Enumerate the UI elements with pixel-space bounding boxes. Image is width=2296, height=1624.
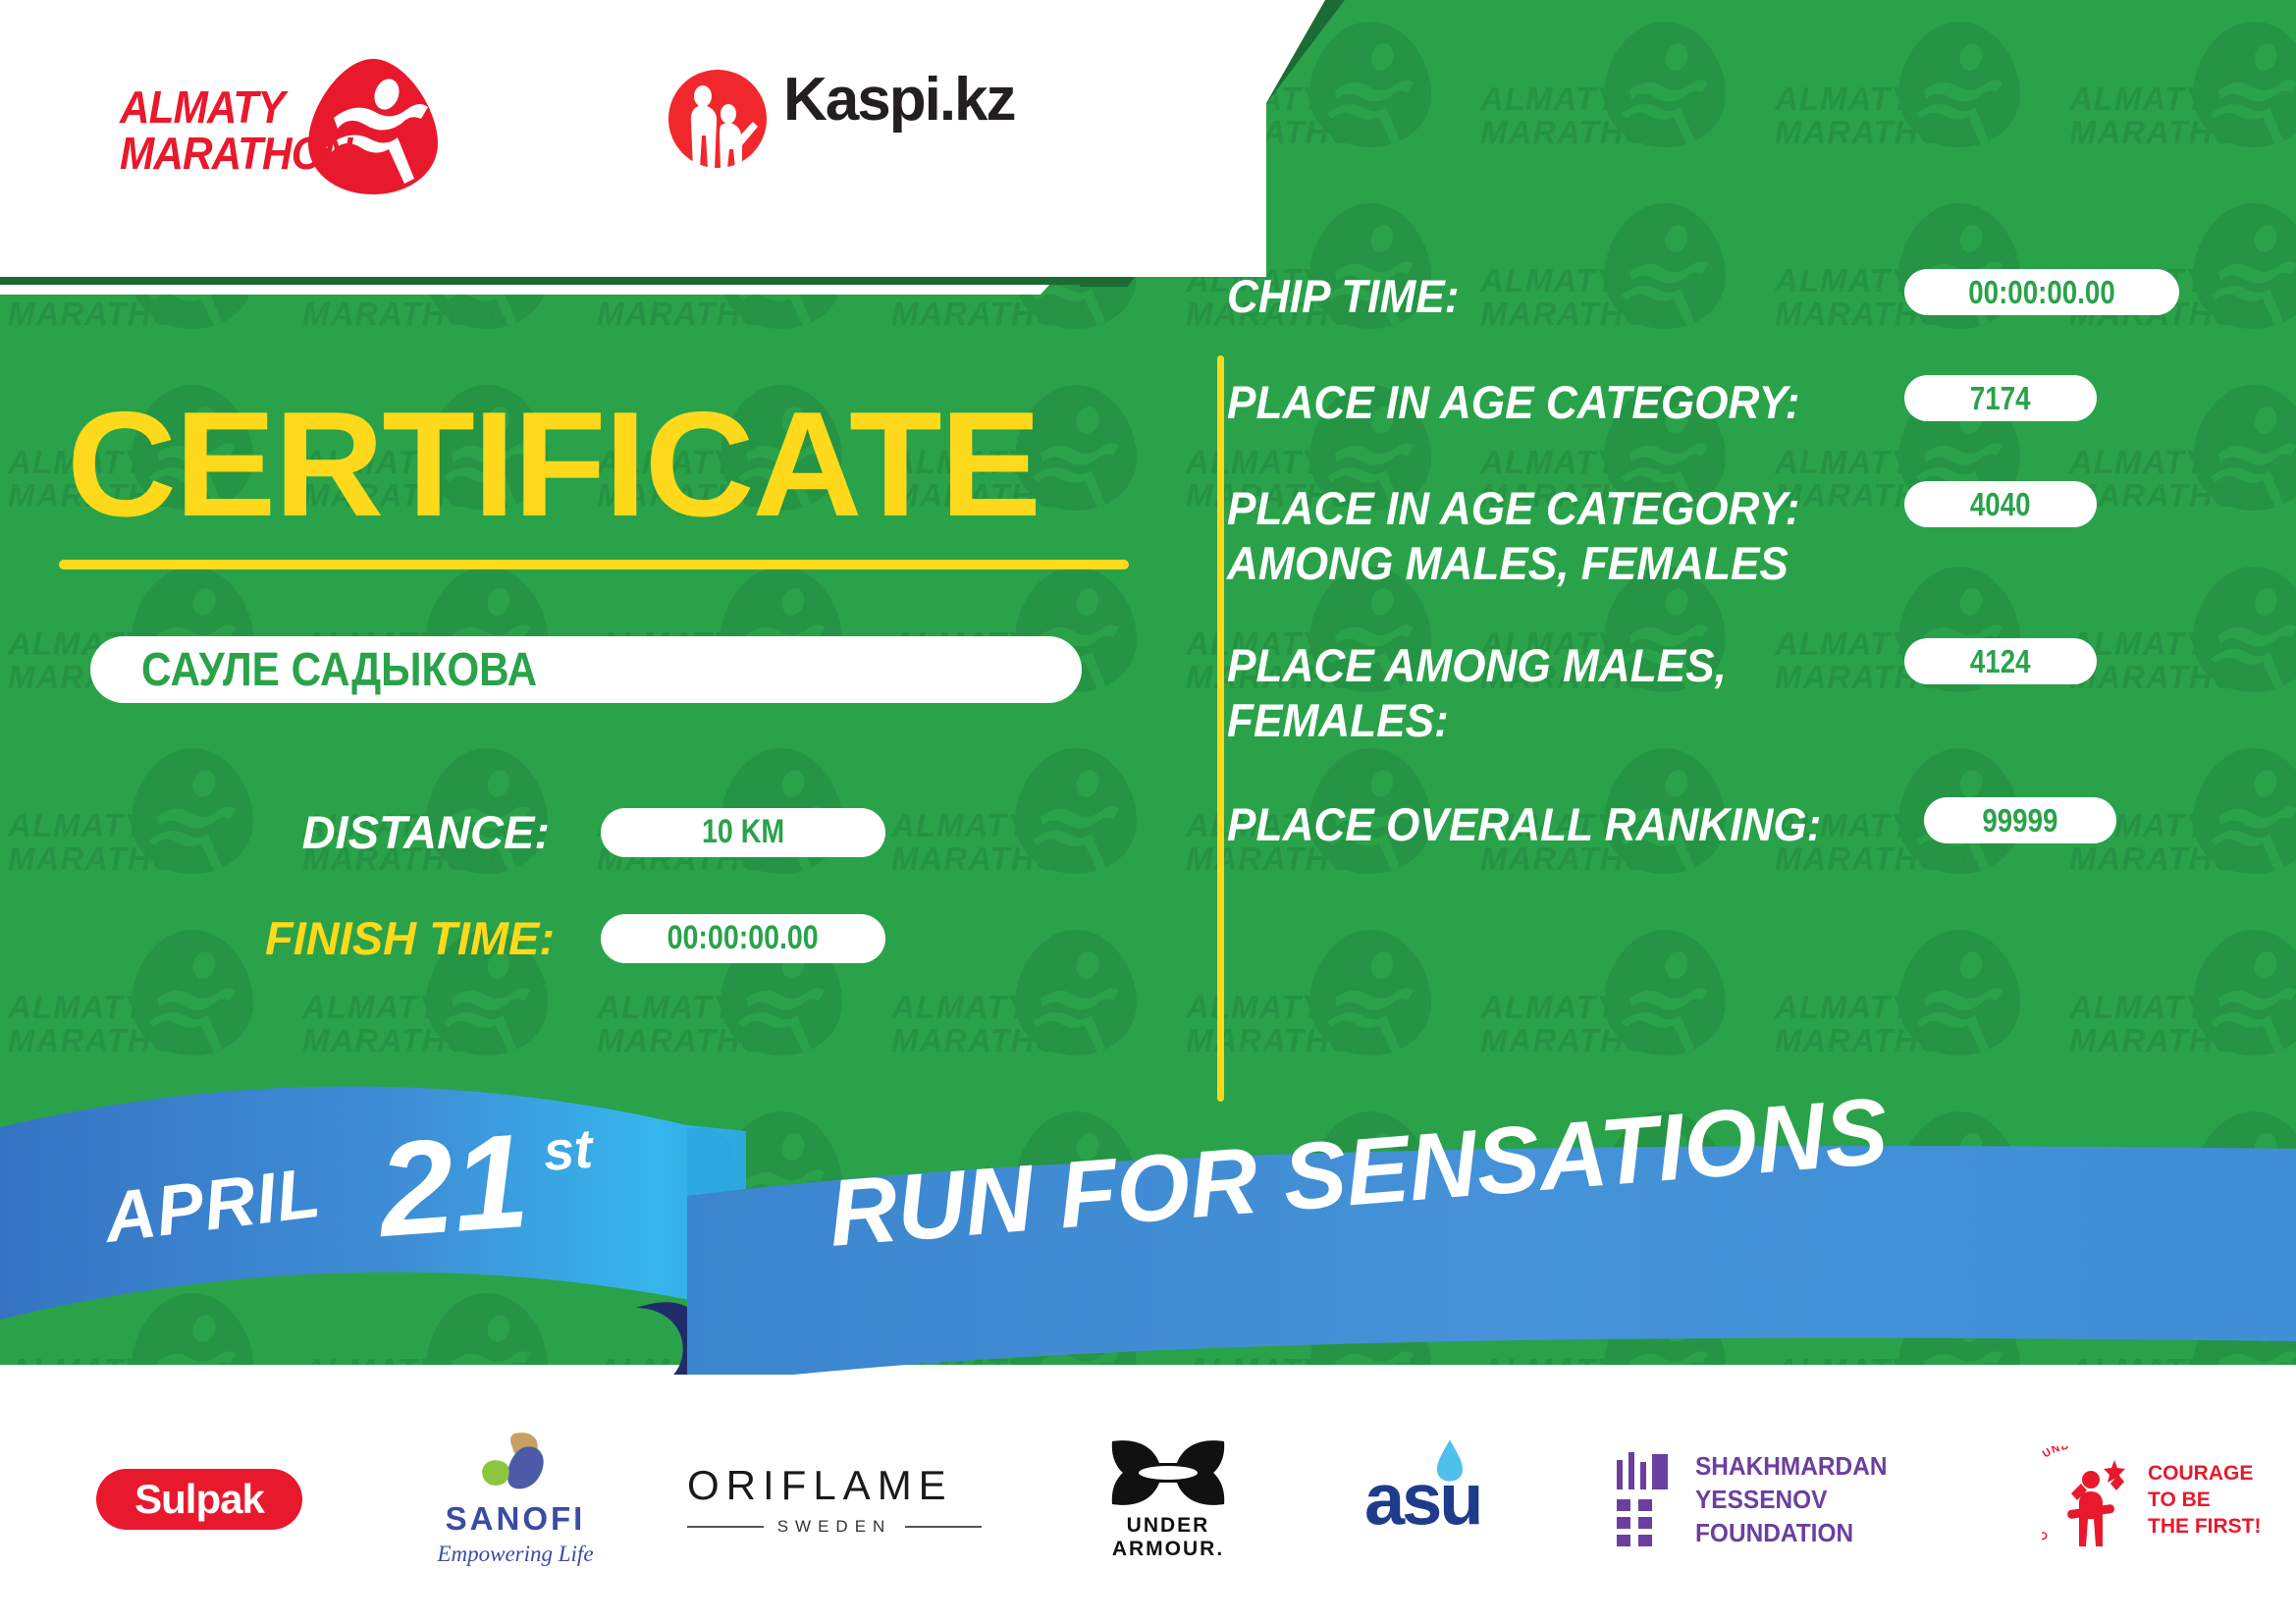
sponsor-sulpak: Sulpak (96, 1469, 302, 1530)
place-among-gender-row: PLACE AMONG MALES,FEMALES: 4124 (1227, 638, 2296, 748)
kaspi-people-circle-icon (667, 69, 768, 169)
sponsor-yessenov: SHAKHMARDAN YESSENOV FOUNDATION (1615, 1449, 2027, 1549)
courage-label-line2: TO BE (2148, 1487, 2262, 1513)
place-age-category-gender-label: PLACE IN AGE CATEGORY:AMONG MALES, FEMAL… (1227, 481, 1864, 591)
sponsor-bar: Sulpak SANOFI Empowering Life ORIFLAME S… (0, 1375, 2296, 1624)
svg-text:CORPORATE FUND: CORPORATE FUND (2042, 1446, 2071, 1543)
oriflame-rule-left (687, 1526, 764, 1528)
oriflame-tagline-wrap: SWEDEN (687, 1517, 982, 1537)
place-overall-ranking-label: PLACE OVERALL RANKING: (1227, 797, 1882, 852)
place-age-category-row: PLACE IN AGE CATEGORY: 7174 (1227, 375, 2296, 430)
place-age-category-gender-row: PLACE IN AGE CATEGORY:AMONG MALES, FEMAL… (1227, 481, 2296, 591)
distance-value-field: 10 KM (601, 808, 885, 857)
oriflame-label: ORIFLAME (687, 1462, 982, 1509)
place-overall-ranking-value-field: 99999 (1924, 797, 2116, 843)
ribbon-ordinal: st (541, 1116, 594, 1183)
title-divider (59, 560, 1129, 569)
under-armour-icon (1104, 1437, 1232, 1508)
panel-divider (1217, 355, 1224, 1102)
finish-time-value: 00:00:00.00 (667, 919, 819, 957)
asu-droplet-icon (1437, 1440, 1463, 1482)
finish-time-label: FINISH TIME: (265, 911, 550, 965)
finish-time-value-field: 00:00:00.00 (601, 914, 885, 963)
sponsor-asu: asu (1364, 1458, 1541, 1542)
courage-label-line1: COURAGE (2148, 1460, 2262, 1487)
sponsor-under-armour: UNDER ARMOUR. (1080, 1437, 1256, 1561)
participant-name-field: САУЛЕ САДЫКОВА (90, 636, 1082, 703)
sponsor-courage: CORPORATE FUND COURAGE TO BE THE FIRST! (2042, 1446, 2268, 1552)
finish-time-row: FINISH TIME: 00:00:00.00 (265, 911, 885, 965)
place-overall-ranking-row: PLACE OVERALL RANKING: 99999 (1227, 797, 2296, 852)
left-panel: CERTIFICATE САУЛЕ САДЫКОВА DISTANCE: 10 … (0, 295, 1207, 1276)
chip-time-label: CHIP TIME: (1227, 269, 1864, 324)
place-age-category-gender-value-field: 4040 (1904, 481, 2097, 527)
courage-label: COURAGE TO BE THE FIRST! (2148, 1460, 2262, 1540)
almaty-marathon-logo: ALMATY MARATHON (120, 47, 444, 194)
place-among-gender-value: 4124 (1970, 643, 2031, 680)
yessenov-label: SHAKHMARDAN YESSENOV FOUNDATION (1695, 1449, 2007, 1549)
almaty-marathon-wordmark-line2: MARATHON (120, 131, 351, 177)
distance-row: DISTANCE: 10 KM (265, 805, 885, 859)
oriflame-tagline: SWEDEN (764, 1517, 906, 1537)
place-age-category-label: PLACE IN AGE CATEGORY: (1227, 375, 1864, 430)
chip-time-row: CHIP TIME: 00:00:00.00 (1227, 269, 2296, 324)
kaspi-logo: Kaspi.kz (667, 61, 1080, 169)
certificate-root: ALMATY MARATHON ALMATY (0, 0, 2296, 1624)
participant-name: САУЛЕ САДЫКОВА (141, 643, 537, 697)
chip-time-value-field: 00:00:00.00 (1904, 269, 2179, 315)
almaty-marathon-wordmark: ALMATY MARATHON (120, 84, 351, 177)
sponsor-sanofi: SANOFI Empowering Life (407, 1432, 623, 1567)
sanofi-label: SANOFI (407, 1500, 623, 1538)
sanofi-mark-icon (473, 1432, 558, 1496)
almaty-marathon-wordmark-line1: ALMATY (120, 84, 351, 131)
place-overall-ranking-value: 99999 (1982, 802, 2057, 839)
place-among-gender-label: PLACE AMONG MALES,FEMALES: (1227, 638, 1864, 748)
kaspi-wordmark: Kaspi.kz (783, 65, 1015, 135)
page-title: CERTIFICATE (67, 379, 1040, 551)
ribbon-day: 21 (374, 1104, 533, 1267)
yessenov-label-line1: SHAKHMARDAN YESSENOV (1695, 1449, 2007, 1516)
yessenov-blocks-icon (1615, 1452, 1674, 1546)
chip-time-value: 00:00:00.00 (1968, 274, 2115, 311)
yessenov-label-line2: FOUNDATION (1695, 1516, 2007, 1549)
sulpak-label: Sulpak (134, 1476, 264, 1523)
courage-figure-icon: CORPORATE FUND (2042, 1446, 2136, 1552)
sulpak-badge: Sulpak (96, 1469, 302, 1530)
sanofi-tagline: Empowering Life (407, 1542, 623, 1567)
place-among-gender-value-field: 4124 (1904, 638, 2097, 684)
place-age-category-value: 7174 (1970, 380, 2031, 417)
courage-label-line3: THE FIRST! (2148, 1513, 2262, 1540)
sponsor-oriflame: ORIFLAME SWEDEN (687, 1462, 982, 1537)
oriflame-rule-right (905, 1526, 982, 1528)
distance-label: DISTANCE: (265, 805, 550, 859)
distance-value: 10 KM (702, 813, 784, 851)
under-armour-label: UNDER ARMOUR. (1080, 1514, 1256, 1561)
place-age-category-gender-value: 4040 (1970, 486, 2031, 523)
place-age-category-value-field: 7174 (1904, 375, 2097, 421)
header: ALMATY MARATHON Kaspi.kz (0, 0, 1266, 271)
